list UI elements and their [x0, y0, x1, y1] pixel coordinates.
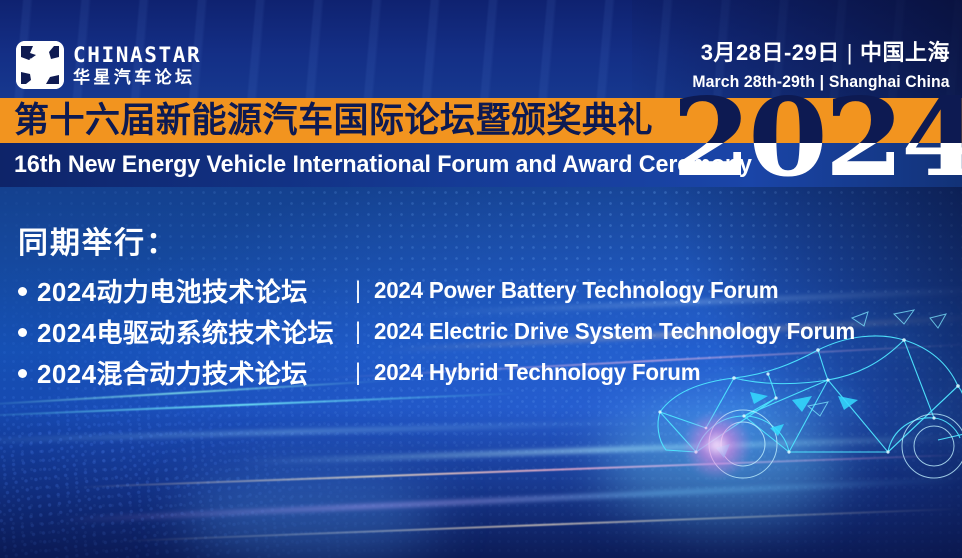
- location-cn: 中国上海: [860, 40, 950, 65]
- forum-name-en: 2024 Power Battery Technology Forum: [374, 277, 778, 304]
- chinastar-star-logo-icon: [16, 41, 64, 89]
- date-location-en-row: March 28th-29th|Shanghai China: [693, 73, 950, 90]
- date-en: March 28th-29th: [693, 72, 816, 91]
- page-title-en: 16th New Energy Vehicle International Fo…: [14, 145, 752, 185]
- list-item: 2024混合动力技术论坛 | 2024 Hybrid Technology Fo…: [18, 354, 870, 391]
- date-location-cn-row: 3月28日-29日|中国上海: [673, 42, 950, 64]
- forum-name-cn: 2024混合动力技术论坛: [37, 354, 342, 391]
- forum-name-en: 2024 Electric Drive System Technology Fo…: [374, 318, 855, 345]
- list-item: 2024动力电池技术论坛 | 2024 Power Battery Techno…: [18, 272, 870, 309]
- date-cn: 3月28日-29日: [701, 40, 840, 65]
- agenda-heading: 同期举行：: [18, 218, 870, 262]
- location-en: Shanghai China: [829, 72, 950, 91]
- brand-name-cn: 华星汽车论坛: [73, 69, 201, 86]
- forum-divider: |: [342, 318, 374, 346]
- forum-divider: |: [342, 359, 374, 387]
- brand-name-en: CHINASTAR: [73, 45, 201, 66]
- page-title-cn: 第十六届新能源汽车国际论坛暨颁奖典礼: [14, 99, 653, 142]
- forum-name-en: 2024 Hybrid Technology Forum: [374, 359, 700, 386]
- bullet-icon: [18, 328, 27, 337]
- concurrent-forums-section: 同期举行： 2024动力电池技术论坛 | 2024 Power Battery …: [18, 218, 870, 395]
- agenda-list: 2024动力电池技术论坛 | 2024 Power Battery Techno…: [18, 272, 870, 391]
- forum-name-cn: 2024电驱动系统技术论坛: [37, 313, 342, 350]
- bullet-icon: [18, 369, 27, 378]
- bullet-icon: [18, 287, 27, 296]
- forum-divider: |: [342, 277, 374, 305]
- date-separator-cn: |: [840, 40, 860, 65]
- brand-wordmark: CHINASTAR 华星汽车论坛: [73, 45, 201, 86]
- date-separator-en: |: [815, 72, 829, 91]
- brand-logo[interactable]: CHINASTAR 华星汽车论坛: [16, 41, 201, 89]
- event-banner: CHINASTAR 华星汽车论坛 3月28日-29日|中国上海 March 28…: [0, 0, 962, 558]
- list-item: 2024电驱动系统技术论坛 | 2024 Electric Drive Syst…: [18, 313, 870, 350]
- event-date-location: 3月28日-29日|中国上海 March 28th-29th|Shanghai …: [673, 42, 950, 90]
- forum-name-cn: 2024动力电池技术论坛: [37, 272, 342, 309]
